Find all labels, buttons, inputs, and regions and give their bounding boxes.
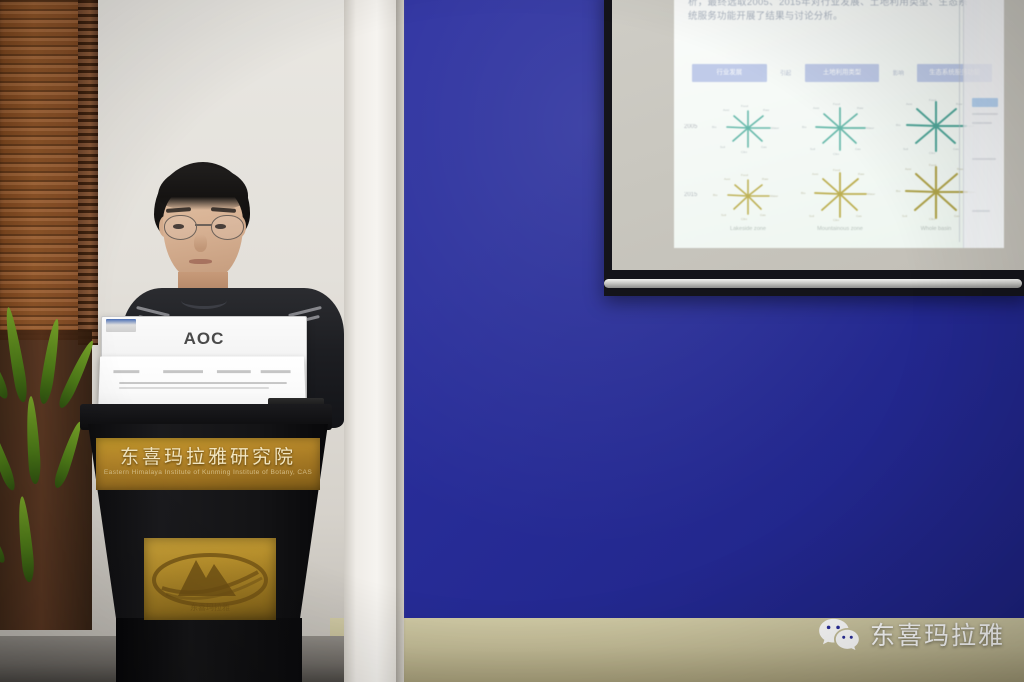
svg-text:Raw: Raw: [763, 108, 770, 112]
pillar-shadow: [396, 0, 406, 682]
svg-text:Bio: Bio: [801, 191, 806, 195]
paper-text-line: [119, 387, 269, 389]
svg-text:Gas: Gas: [761, 145, 767, 149]
radar-chart-2015-lakeside: FoodRaw WaterGas ClimSoil BioAest: [708, 168, 788, 224]
svg-text:Raw: Raw: [857, 106, 864, 110]
radar-col-label-mountainous: Mountainous zone: [802, 226, 878, 232]
paper-heading-mark: [113, 370, 139, 372]
svg-text:Food: Food: [929, 98, 936, 102]
svg-text:Clim: Clim: [929, 151, 936, 154]
svg-text:Soil: Soil: [721, 213, 726, 217]
wechat-watermark: 东喜玛拉雅: [818, 616, 1005, 652]
svg-text:Food: Food: [741, 173, 748, 177]
slide-flow-diagram: 行业发展 引起 土地利用类型 影响 生态系统服务功能: [692, 64, 992, 82]
svg-text:Clim: Clim: [741, 217, 748, 221]
paper-heading-mark: [217, 370, 251, 372]
svg-text:Food: Food: [833, 168, 840, 172]
svg-text:Soil: Soil: [903, 147, 908, 151]
flow-arrow-affects: 影响: [883, 69, 913, 77]
svg-text:Water: Water: [770, 194, 778, 198]
projection-screen-surface: 上选取了2000年、2005年、2010年、2015、2018年开展数据分析，最…: [612, 0, 1024, 270]
svg-text:Gas: Gas: [855, 147, 861, 151]
flow-arrow-causes: 引起: [771, 69, 801, 77]
plaque-chinese-text: 东喜玛拉雅研究院: [96, 442, 320, 469]
svg-text:Aest: Aest: [905, 167, 911, 171]
pane-line: [972, 158, 996, 160]
pane-line: [972, 210, 990, 212]
paper-heading-mark: [261, 370, 291, 372]
flow-box-landuse: 土地利用类型: [805, 64, 880, 82]
paper-heading-mark: [163, 370, 203, 372]
pane-accent-chip: [972, 98, 998, 107]
svg-text:Bio: Bio: [802, 125, 807, 129]
presenter-collar: [181, 292, 227, 309]
svg-text:Aest: Aest: [723, 108, 729, 112]
presenter-nose: [194, 234, 207, 252]
svg-text:Bio: Bio: [896, 189, 901, 193]
svg-text:Clim: Clim: [929, 217, 936, 220]
svg-text:Gas: Gas: [856, 214, 862, 218]
paper-text-line: [119, 382, 287, 384]
pane-line: [972, 122, 992, 124]
radar-chart-grid: 2005 2015: [682, 98, 1000, 234]
wood-panel-edge: [78, 0, 98, 345]
svg-text:Soil: Soil: [809, 214, 814, 218]
svg-text:Water: Water: [867, 192, 875, 196]
podium-base: [116, 618, 302, 682]
radar-chart-2005-lakeside: FoodRaw WaterGas ClimSoil BioAest: [708, 100, 788, 156]
flow-box-industry: 行业发展: [692, 64, 767, 82]
glasses-lens-right: [211, 215, 244, 240]
wechat-icon: [818, 617, 860, 651]
mountain-swoosh-logo: 东喜玛拉雅: [144, 538, 276, 620]
radar-row-label-2015: 2015: [684, 192, 697, 198]
svg-text:Soil: Soil: [902, 214, 907, 218]
projection-screen: 上选取了2000年、2005年、2010年、2015、2018年开展数据分析，最…: [604, 0, 1024, 296]
svg-text:Raw: Raw: [858, 172, 865, 176]
presenter-mouth: [189, 259, 212, 264]
glasses-lens-left: [164, 215, 197, 240]
institute-logo-plaque: 东喜玛拉雅: [144, 538, 276, 620]
svg-text:东喜玛拉雅: 东喜玛拉雅: [190, 602, 230, 612]
powerpoint-side-pane: [963, 0, 1004, 248]
wood-panel-lower: [0, 330, 92, 630]
plaque-english-text: Eastern Himalaya Institute of Kunming In…: [96, 469, 320, 476]
svg-text:Aest: Aest: [906, 102, 912, 106]
slide-body-text: 上选取了2000年、2005年、2010年、2015、2018年开展数据分析，最…: [688, 0, 968, 22]
svg-text:Water: Water: [771, 126, 779, 130]
svg-text:Food: Food: [929, 164, 936, 167]
podium-name-plaque: 东喜玛拉雅研究院 Eastern Himalaya Institute of K…: [96, 438, 320, 490]
svg-text:Bio: Bio: [713, 193, 718, 197]
presentation-photo: 上选取了2000年、2005年、2010年、2015、2018年开展数据分析，最…: [0, 0, 1024, 682]
svg-text:Food: Food: [741, 104, 748, 108]
projection-screen-weight-bar: [604, 279, 1022, 288]
projected-slide: 上选取了2000年、2005年、2010年、2015、2018年开展数据分析，最…: [674, 0, 1004, 248]
svg-text:Food: Food: [833, 102, 840, 106]
svg-text:Raw: Raw: [762, 177, 769, 181]
wechat-account-name: 东喜玛拉雅: [870, 616, 1005, 652]
svg-text:Clim: Clim: [833, 218, 840, 222]
pane-ruler: [959, 0, 960, 242]
svg-text:Clim: Clim: [741, 150, 748, 154]
svg-text:Water: Water: [866, 126, 874, 130]
pane-line: [972, 113, 998, 115]
svg-text:Aest: Aest: [813, 106, 819, 110]
svg-text:Aest: Aest: [812, 172, 818, 176]
radar-row-label-2005: 2005: [684, 124, 697, 130]
svg-text:Soil: Soil: [810, 147, 815, 151]
svg-text:Bio: Bio: [712, 125, 717, 129]
glasses-bridge: [195, 224, 212, 226]
svg-text:Gas: Gas: [760, 213, 766, 217]
svg-text:Bio: Bio: [896, 123, 901, 127]
radar-chart-2015-mountainous: FoodRaw WaterGas ClimSoil BioAest: [800, 166, 880, 222]
radar-col-label-lakeside: Lakeside zone: [710, 226, 786, 232]
svg-text:Clim: Clim: [833, 152, 840, 156]
monitor-brand-label: AOC: [102, 329, 306, 349]
svg-text:Soil: Soil: [720, 145, 725, 149]
svg-text:Aest: Aest: [724, 177, 730, 181]
white-pillar: [344, 0, 404, 682]
radar-chart-2005-mountainous: FoodRaw WaterGas ClimSoil BioAest: [800, 100, 880, 156]
